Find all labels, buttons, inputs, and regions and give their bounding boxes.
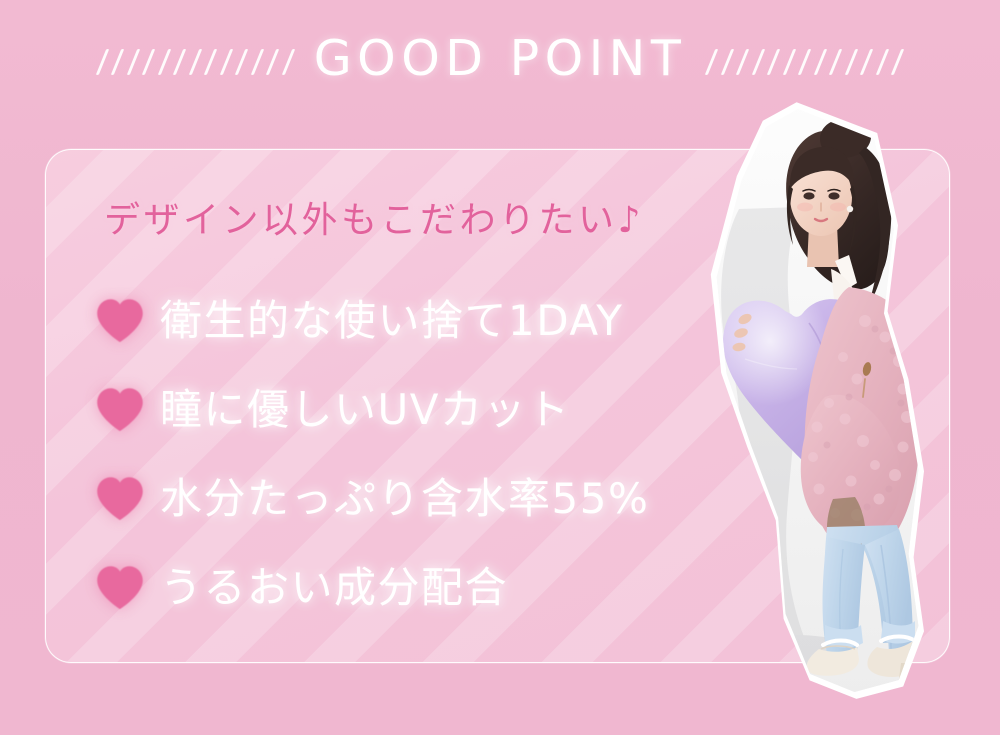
- diagonal-slash-icon: [204, 49, 218, 75]
- diagonal-slash-icon: [767, 49, 781, 75]
- diagonal-slash-icon: [266, 49, 280, 75]
- diagonal-slash-icon: [829, 49, 843, 75]
- list-item-label: 衛生的な使い捨て1DAY: [160, 300, 623, 342]
- diagonal-slash-icon: [721, 49, 735, 75]
- list-item: 水分たっぷり含水率55%: [94, 454, 794, 543]
- list-item-label: 水分たっぷり含水率55%: [160, 478, 649, 520]
- diagonal-slash-icon: [876, 49, 890, 75]
- diagonal-slash-icon: [705, 49, 719, 75]
- slash-decoration-left: [101, 40, 290, 80]
- list-item: うるおい成分配合: [94, 543, 794, 632]
- diagonal-slash-icon: [111, 49, 125, 75]
- diagonal-slash-icon: [281, 49, 295, 75]
- card-heading: デザイン以外もこだわりたい♪: [104, 191, 644, 243]
- diagonal-slash-icon: [814, 49, 828, 75]
- diagonal-slash-icon: [157, 49, 171, 75]
- diagonal-slash-icon: [845, 49, 859, 75]
- banner-header: GOOD POINT: [0, 24, 1000, 96]
- diagonal-slash-icon: [219, 49, 233, 75]
- list-item: 瞳に優しいUVカット: [94, 365, 794, 454]
- feature-list: 衛生的な使い捨て1DAY 瞳に優しいUVカット 水分たっぷり含水率55%: [94, 276, 794, 632]
- page-title: GOOD POINT: [304, 34, 697, 87]
- diagonal-slash-icon: [860, 49, 874, 75]
- diagonal-slash-icon: [783, 49, 797, 75]
- diagonal-slash-icon: [891, 49, 905, 75]
- heart-icon: [94, 295, 146, 347]
- list-item-label: 瞳に優しいUVカット: [160, 389, 570, 431]
- diagonal-slash-icon: [142, 49, 156, 75]
- diagonal-slash-icon: [752, 49, 766, 75]
- diagonal-slash-icon: [235, 49, 249, 75]
- diagonal-slash-icon: [95, 49, 109, 75]
- model-photo: [690, 90, 950, 705]
- diagonal-slash-icon: [126, 49, 140, 75]
- heart-icon: [94, 384, 146, 436]
- diagonal-slash-icon: [250, 49, 264, 75]
- diagonal-slash-icon: [173, 49, 187, 75]
- heart-icon: [94, 473, 146, 525]
- list-item-label: うるおい成分配合: [160, 567, 508, 609]
- heart-icon: [94, 562, 146, 614]
- diagonal-slash-icon: [736, 49, 750, 75]
- promo-banner: GOOD POINT デザイン以外もこだわりたい♪ 衛生的な使い捨て1DAY: [0, 0, 1000, 735]
- diagonal-slash-icon: [798, 49, 812, 75]
- slash-decoration-right: [710, 40, 899, 80]
- list-item: 衛生的な使い捨て1DAY: [94, 276, 794, 365]
- diagonal-slash-icon: [188, 49, 202, 75]
